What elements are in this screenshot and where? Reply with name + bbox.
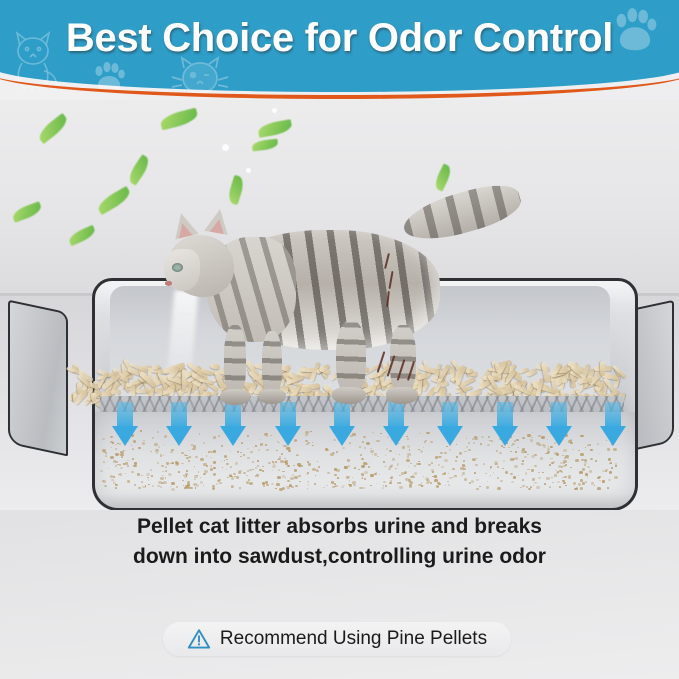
sawdust-particle	[194, 466, 196, 467]
sawdust-particle	[423, 476, 425, 477]
product-marketing-image: Best Choice for Odor Control	[0, 0, 679, 679]
sawdust-particle	[272, 470, 274, 471]
sawdust-particle	[176, 486, 178, 488]
sawdust-particle	[115, 487, 117, 489]
sawdust-particle	[490, 466, 492, 468]
sawdust-particle	[576, 487, 579, 489]
sawdust-particle	[582, 468, 586, 471]
cat-hind-paw	[386, 387, 418, 404]
sawdust-particle	[497, 477, 499, 479]
sawdust-particle	[349, 484, 353, 487]
sawdust-particle	[146, 473, 150, 476]
sawdust-particle	[189, 487, 192, 489]
sawdust-particle	[530, 486, 532, 488]
sawdust-particle	[479, 486, 481, 487]
litter-pellet	[599, 361, 605, 376]
sawdust-flow-arrow-icon	[112, 402, 138, 446]
cat-nose	[165, 281, 172, 286]
sawdust-particle	[533, 485, 535, 486]
sawdust-particle	[368, 466, 370, 467]
sawdust-particle	[552, 482, 553, 483]
sawdust-particle	[410, 476, 413, 478]
sawdust-particle	[434, 479, 437, 482]
sawdust-particle	[278, 477, 280, 478]
litter-box-left-flap	[8, 300, 68, 457]
sawdust-particle	[151, 475, 154, 477]
sawdust-particle	[511, 481, 514, 483]
cat-front-paw	[258, 389, 286, 404]
sawdust-particle	[219, 482, 221, 484]
cat-front-leg	[224, 325, 246, 397]
sawdust-particle	[587, 476, 589, 477]
sawdust-particle	[127, 480, 130, 483]
sawdust-particle	[520, 487, 522, 488]
sawdust-particle	[549, 486, 551, 488]
sawdust-particle	[614, 476, 617, 479]
cat-hind-leg	[336, 321, 366, 395]
sawdust-particle	[213, 473, 217, 476]
sawdust-particle	[138, 487, 141, 489]
sawdust-particle	[452, 477, 454, 478]
sawdust-particle	[212, 485, 215, 487]
sawdust-particle	[513, 476, 516, 479]
cat-front-leg	[262, 331, 282, 397]
sawdust-particle	[469, 482, 471, 484]
sawdust-flow-arrow-icon	[600, 402, 626, 446]
sawdust-particle	[230, 466, 232, 468]
sawdust-particle	[160, 486, 162, 488]
sawdust-particle	[438, 464, 440, 466]
sawdust-particle	[363, 475, 364, 476]
sawdust-particle	[287, 465, 290, 468]
sawdust-particle	[307, 481, 309, 483]
warning-triangle-icon	[187, 628, 211, 650]
sawdust-particle	[390, 477, 393, 480]
sawdust-particle	[246, 475, 248, 477]
sawdust-particle	[383, 481, 385, 483]
sawdust-particle	[460, 467, 463, 470]
sawdust-particle	[262, 466, 264, 467]
sawdust-particle	[292, 474, 294, 475]
sawdust-particle	[364, 478, 366, 479]
sawdust-particle	[563, 482, 566, 484]
sawdust-particle	[262, 470, 264, 472]
sparkle-icon	[246, 168, 251, 173]
sawdust-particle	[388, 468, 391, 470]
sawdust-particle	[408, 466, 409, 467]
sawdust-particle	[374, 473, 377, 475]
sawdust-particle	[559, 486, 561, 487]
sawdust-particle	[226, 469, 227, 470]
sawdust-particle	[231, 477, 234, 480]
sawdust-particle	[249, 482, 253, 485]
sawdust-particle	[534, 465, 537, 467]
sawdust-particle	[282, 471, 284, 473]
sawdust-particle	[414, 472, 417, 474]
sawdust-particle	[395, 468, 397, 469]
sawdust-particle	[206, 465, 208, 467]
sawdust-particle	[602, 480, 605, 483]
sawdust-particle	[436, 485, 439, 488]
sawdust-particle	[399, 475, 401, 476]
sawdust-particle	[141, 475, 143, 476]
sawdust-particle	[544, 483, 546, 485]
sawdust-particle	[213, 488, 214, 489]
sawdust-particle	[379, 474, 380, 475]
sawdust-particle	[525, 472, 528, 474]
sawdust-particle	[464, 478, 467, 481]
sawdust-particle	[384, 466, 386, 468]
sawdust-particle	[608, 479, 611, 482]
sawdust-particle	[476, 488, 478, 490]
sawdust-particle	[408, 479, 411, 482]
sawdust-particle	[454, 475, 456, 477]
sawdust-particle	[441, 466, 444, 468]
sawdust-particle	[434, 475, 437, 477]
sawdust-particle	[308, 484, 310, 485]
sawdust-particle	[314, 483, 316, 485]
caption-line-2: down into sawdust,controlling urine odor	[0, 542, 679, 572]
sawdust-particle	[318, 466, 320, 468]
sawdust-particle	[382, 487, 384, 489]
sawdust-particle	[162, 471, 164, 473]
sawdust-particle	[193, 483, 197, 486]
sawdust-particle	[294, 469, 297, 471]
sawdust-particle	[518, 475, 519, 476]
sawdust-particle	[502, 468, 504, 470]
sawdust-particle	[272, 465, 276, 468]
sawdust-particle	[353, 484, 356, 486]
sawdust-particle	[557, 481, 560, 484]
sawdust-particle	[358, 469, 359, 470]
sawdust-particle	[256, 474, 259, 477]
sawdust-particle	[266, 484, 269, 486]
sawdust-particle	[287, 487, 289, 489]
sawdust-particle	[542, 472, 544, 473]
sawdust-particle	[474, 472, 476, 474]
sawdust-particle	[538, 472, 540, 473]
sawdust-particle	[263, 485, 265, 487]
sawdust-particle	[200, 477, 201, 478]
sawdust-particle	[599, 480, 600, 481]
sawdust-particle	[291, 486, 293, 488]
sawdust-particle	[427, 479, 429, 480]
sawdust-particle	[316, 469, 318, 471]
sawdust-particle	[187, 481, 190, 483]
sawdust-particle	[278, 469, 280, 471]
sawdust-particle	[125, 473, 126, 474]
sawdust-particle	[532, 478, 536, 481]
sawdust-particle	[285, 477, 286, 478]
sawdust-particle	[587, 466, 589, 468]
sawdust-particle	[397, 465, 399, 466]
sawdust-particle	[449, 477, 452, 479]
sawdust-particle	[399, 482, 401, 483]
sawdust-particle	[607, 487, 609, 489]
sawdust-particle	[538, 477, 541, 479]
sawdust-particle	[597, 487, 601, 490]
sawdust-particle	[290, 477, 293, 480]
cat-ear-inner	[210, 218, 226, 234]
sawdust-particle	[390, 465, 393, 467]
sawdust-particle	[275, 488, 277, 490]
sawdust-particle	[300, 481, 302, 482]
sawdust-particle	[171, 482, 175, 485]
sawdust-particle	[252, 469, 254, 471]
sawdust-particle	[293, 465, 295, 466]
sawdust-particle	[452, 468, 455, 471]
cat-eye	[172, 263, 183, 272]
sawdust-particle	[611, 467, 613, 469]
sawdust-particle	[370, 485, 372, 486]
sawdust-particle	[194, 478, 197, 480]
sawdust-particle	[210, 465, 213, 467]
sawdust-particle	[298, 475, 302, 478]
sawdust-particle	[152, 485, 154, 486]
urine-stream-line	[377, 351, 386, 373]
sawdust-particle	[337, 477, 339, 479]
sawdust-particle	[161, 482, 164, 484]
sawdust-particle	[161, 465, 164, 467]
sawdust-particle	[385, 485, 387, 486]
sawdust-particle	[165, 466, 167, 468]
sawdust-particle	[580, 487, 583, 489]
sawdust-particle	[105, 485, 107, 487]
sawdust-particle	[171, 488, 175, 491]
sawdust-particle	[334, 474, 336, 476]
sawdust-particle	[246, 481, 249, 483]
sparkle-icon	[272, 108, 277, 113]
sawdust-particle	[497, 487, 501, 490]
sawdust-particle	[554, 474, 558, 477]
sawdust-particle	[527, 469, 529, 471]
sawdust-particle	[432, 471, 434, 472]
sawdust-particle	[490, 475, 491, 476]
cat-tail	[399, 177, 525, 249]
sawdust-particle	[609, 471, 612, 473]
sawdust-particle	[494, 474, 495, 475]
sawdust-particle	[327, 472, 330, 474]
sawdust-particle	[113, 476, 115, 477]
sparkle-icon	[222, 144, 229, 151]
sawdust-particle	[563, 465, 566, 467]
sawdust-particle	[137, 473, 140, 475]
sawdust-particle	[390, 480, 392, 482]
recommendation-badge[interactable]: Recommend Using Pine Pellets	[163, 622, 511, 656]
sawdust-particle	[445, 485, 446, 486]
sawdust-particle	[131, 471, 134, 474]
sawdust-particle	[437, 482, 440, 484]
sawdust-particle	[331, 481, 334, 483]
sawdust-particle	[239, 487, 241, 489]
sawdust-particle	[127, 465, 129, 467]
sawdust-particle	[362, 477, 364, 478]
sawdust-particle	[282, 487, 285, 489]
sawdust-particle	[546, 477, 549, 480]
sawdust-particle	[165, 470, 167, 472]
sawdust-particle	[585, 473, 588, 475]
sawdust-particle	[182, 480, 184, 482]
sawdust-particle	[589, 470, 593, 473]
sawdust-particle	[404, 472, 406, 473]
sawdust-particle	[315, 475, 316, 476]
sawdust-particle	[255, 467, 257, 469]
sawdust-particle	[184, 476, 187, 479]
sawdust-particle	[579, 471, 583, 474]
sawdust-particle	[203, 485, 205, 486]
sawdust-particle	[236, 476, 239, 479]
sawdust-particle	[461, 475, 463, 477]
sawdust-particle	[231, 485, 235, 488]
sawdust-particle	[486, 486, 489, 488]
sawdust-particle	[428, 464, 431, 466]
sawdust-particle	[448, 473, 449, 474]
sawdust-particle	[584, 464, 586, 466]
sawdust-particle	[186, 470, 188, 471]
sawdust-particle	[323, 487, 325, 488]
sawdust-particle	[178, 471, 181, 473]
sawdust-particle	[421, 482, 422, 483]
sawdust-particle	[471, 480, 474, 482]
sawdust-particle	[364, 471, 368, 474]
sawdust-particle	[344, 466, 347, 469]
sawdust-particle	[493, 472, 494, 473]
sawdust-particle	[170, 474, 172, 475]
sawdust-particle	[120, 467, 123, 469]
sawdust-particle	[227, 477, 228, 478]
sawdust-particle	[233, 473, 236, 475]
sawdust-particle	[585, 481, 587, 483]
sawdust-particle	[485, 473, 487, 475]
sawdust-particle	[349, 480, 351, 481]
sawdust-particle	[134, 484, 136, 485]
caption-text: Pellet cat litter absorbs urine and brea…	[0, 512, 679, 572]
sawdust-particle	[605, 471, 606, 472]
sawdust-particle	[531, 469, 535, 472]
sawdust-particle	[326, 485, 328, 487]
sawdust-particle	[289, 484, 292, 486]
product-scene	[0, 100, 679, 510]
litter-pellet	[136, 389, 149, 394]
sawdust-particle	[100, 470, 103, 472]
sawdust-particle	[500, 480, 503, 482]
sawdust-particle	[141, 481, 144, 483]
sawdust-particle	[142, 486, 146, 489]
sawdust-particle	[534, 482, 536, 484]
sawdust-particle	[218, 479, 221, 481]
sawdust-particle	[348, 476, 350, 478]
sawdust-particle	[551, 477, 553, 478]
sawdust-particle	[591, 482, 594, 484]
sawdust-particle	[162, 475, 164, 477]
sawdust-particle	[150, 469, 152, 471]
sawdust-particle	[119, 473, 122, 475]
sawdust-particle	[602, 470, 605, 472]
sawdust-particle	[562, 477, 563, 478]
sawdust-flow-arrow-icon	[546, 402, 572, 446]
sawdust-particle	[195, 487, 197, 488]
sawdust-particle	[505, 471, 508, 473]
sawdust-particle	[348, 465, 350, 467]
sawdust-particle	[203, 473, 206, 475]
recommendation-badge-label: Recommend Using Pine Pellets	[220, 628, 487, 650]
sawdust-particle	[198, 471, 199, 472]
sawdust-particle	[108, 468, 109, 469]
sawdust-particle	[442, 473, 445, 476]
sawdust-particle	[568, 475, 572, 478]
sawdust-particle	[598, 476, 601, 478]
sawdust-particle	[133, 465, 137, 468]
sawdust-particle	[306, 474, 307, 475]
sawdust-particle	[399, 486, 403, 489]
sawdust-particle	[361, 487, 365, 490]
sawdust-particle	[573, 482, 577, 485]
sawdust-particle	[510, 473, 512, 475]
sawdust-particle	[257, 465, 259, 467]
sawdust-particle	[119, 464, 121, 465]
sawdust-particle	[213, 467, 216, 469]
sawdust-particle	[216, 483, 218, 485]
sawdust-particle	[376, 483, 377, 484]
sawdust-particle	[514, 465, 518, 468]
sawdust-particle	[170, 486, 171, 487]
sawdust-particle	[265, 481, 268, 484]
sawdust-particle	[421, 485, 423, 486]
sawdust-particle	[615, 465, 617, 466]
sawdust-particle	[522, 485, 524, 487]
cat-illustration	[150, 175, 530, 425]
cat-front-paw	[220, 389, 250, 405]
sawdust-particle	[147, 477, 149, 479]
cat-hind-paw	[332, 387, 366, 404]
sawdust-particle	[276, 483, 279, 486]
sawdust-particle	[334, 468, 338, 471]
sawdust-particle	[160, 477, 164, 480]
sawdust-particle	[389, 482, 391, 484]
sawdust-particle	[271, 483, 274, 485]
sawdust-particle	[102, 480, 105, 482]
caption-line-1: Pellet cat litter absorbs urine and brea…	[0, 512, 679, 542]
sawdust-particle	[115, 465, 117, 466]
sawdust-particle	[487, 481, 488, 482]
sawdust-particle	[549, 464, 551, 466]
sawdust-particle	[476, 479, 479, 481]
sawdust-particle	[565, 485, 567, 487]
sawdust-particle	[447, 481, 448, 482]
sawdust-particle	[165, 477, 167, 478]
header-banner: Best Choice for Odor Control	[0, 0, 679, 100]
sawdust-particle	[414, 465, 416, 467]
page-title: Best Choice for Odor Control	[0, 16, 679, 61]
sawdust-particle	[448, 484, 451, 486]
sawdust-particle	[594, 485, 595, 486]
sawdust-particle	[497, 466, 499, 468]
sawdust-particle	[307, 488, 309, 490]
sawdust-particle	[222, 467, 223, 468]
sawdust-particle	[564, 476, 567, 478]
sawdust-particle	[200, 481, 203, 483]
sawdust-particle	[430, 482, 432, 484]
sawdust-particle	[354, 467, 356, 469]
sawdust-particle	[287, 480, 290, 482]
sawdust-particle	[522, 479, 524, 481]
sawdust-particle	[352, 477, 353, 478]
sawdust-particle	[578, 483, 582, 486]
sawdust-particle	[295, 485, 298, 487]
sawdust-particle	[536, 486, 540, 489]
sawdust-particle	[570, 467, 572, 468]
sawdust-particle	[148, 479, 149, 480]
